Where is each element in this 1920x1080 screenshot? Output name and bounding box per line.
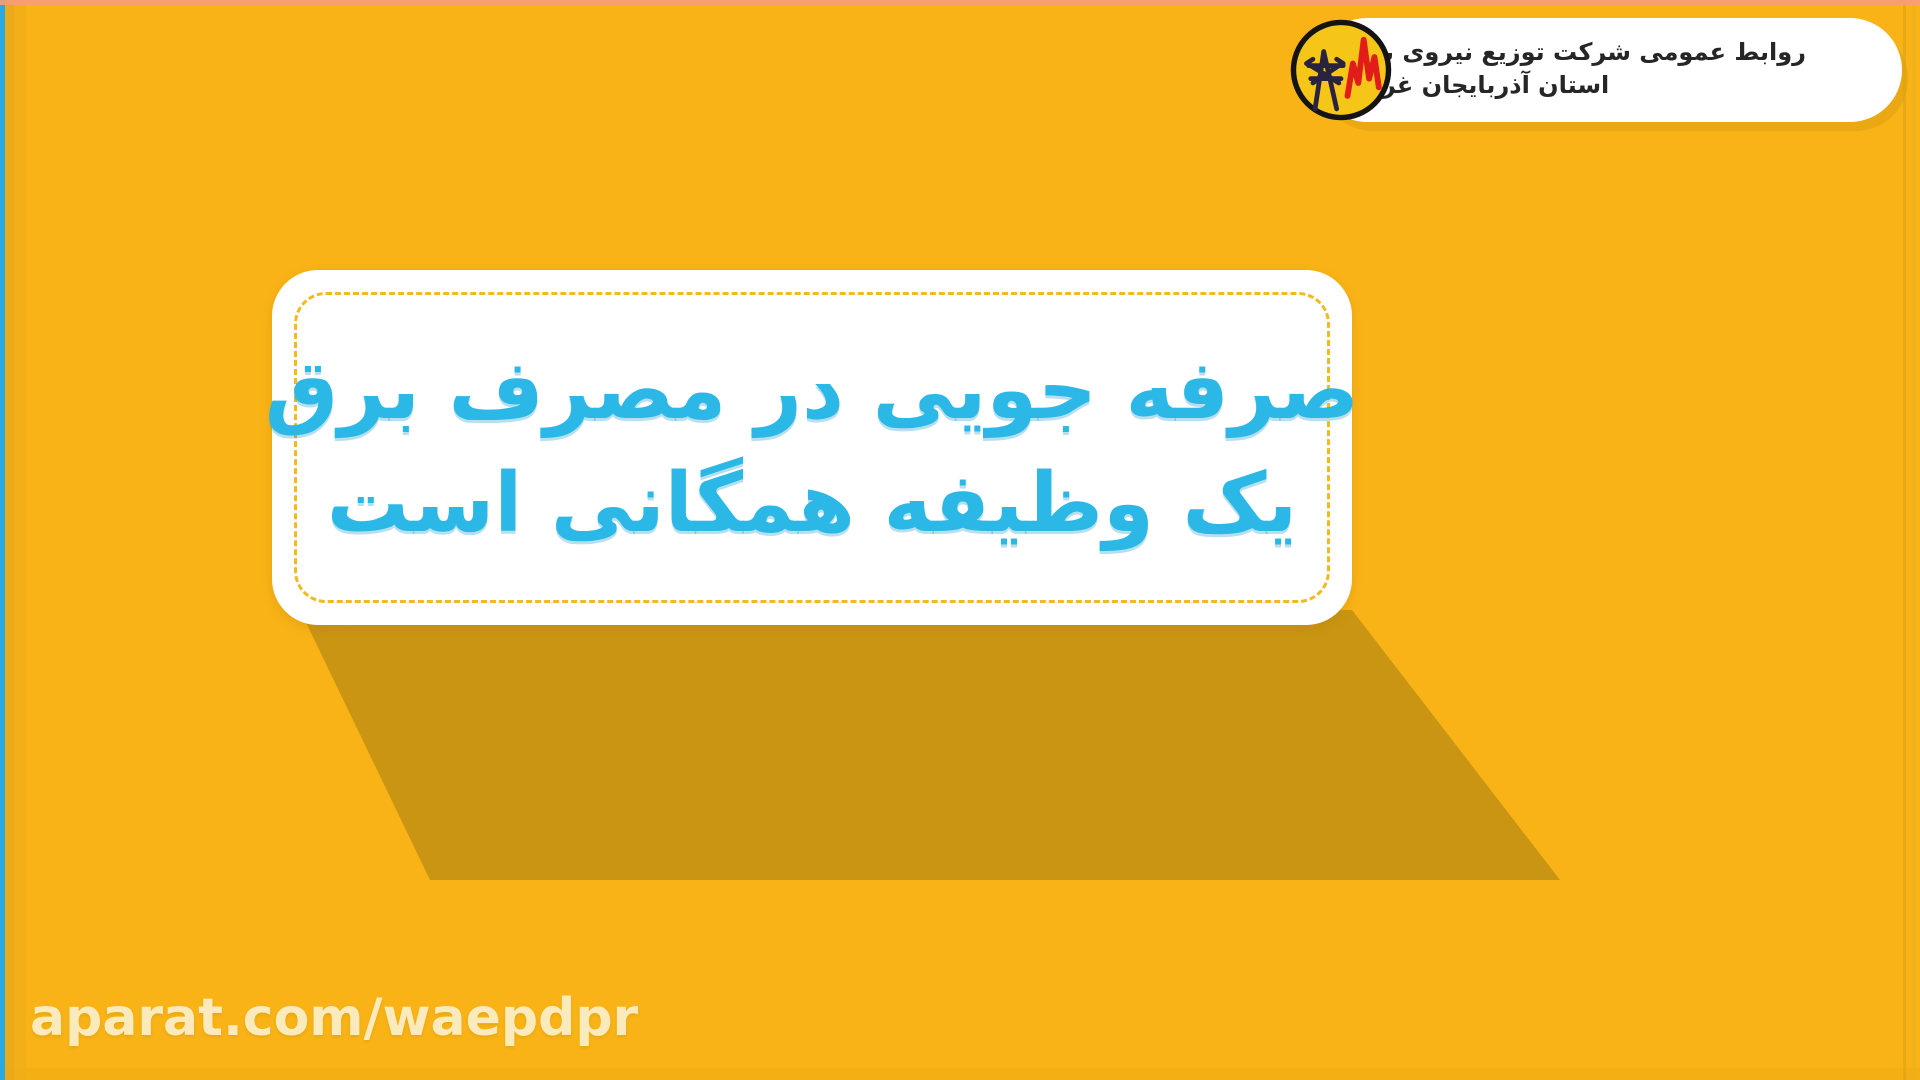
slogan-line-1: صرفه جویی در مصرف برق bbox=[265, 348, 1359, 434]
slogan-line-2: یک وظیفه همگانی است bbox=[327, 461, 1297, 547]
organization-badge-pill: روابط عمومی شرکت توزیع نیروی برق استان آ… bbox=[1315, 18, 1902, 122]
right-edge-line-inner bbox=[1912, 0, 1916, 1080]
left-edge-shade-inner bbox=[5, 0, 14, 1080]
bottom-edge-band bbox=[0, 1068, 1920, 1080]
power-distribution-logo-icon bbox=[1287, 16, 1395, 124]
right-edge-line-outer bbox=[1903, 0, 1906, 1080]
top-edge-salmon-strip bbox=[0, 0, 1920, 5]
poster-stage: صرفه جویی در مصرف برق یک وظیفه همگانی اس… bbox=[0, 0, 1920, 1080]
left-edge-shade-outer bbox=[14, 0, 26, 1080]
aparat-watermark: aparat.com/waepdpr bbox=[30, 988, 638, 1048]
organization-badge: روابط عمومی شرکت توزیع نیروی برق استان آ… bbox=[1315, 18, 1902, 122]
card-text-container: صرفه جویی در مصرف برق یک وظیفه همگانی اس… bbox=[272, 270, 1352, 625]
organization-name-line-1: روابط عمومی شرکت توزیع نیروی برق bbox=[1349, 36, 1806, 69]
slogan-card: صرفه جویی در مصرف برق یک وظیفه همگانی اس… bbox=[272, 270, 1352, 625]
left-edge-blue-strip bbox=[0, 0, 5, 1080]
